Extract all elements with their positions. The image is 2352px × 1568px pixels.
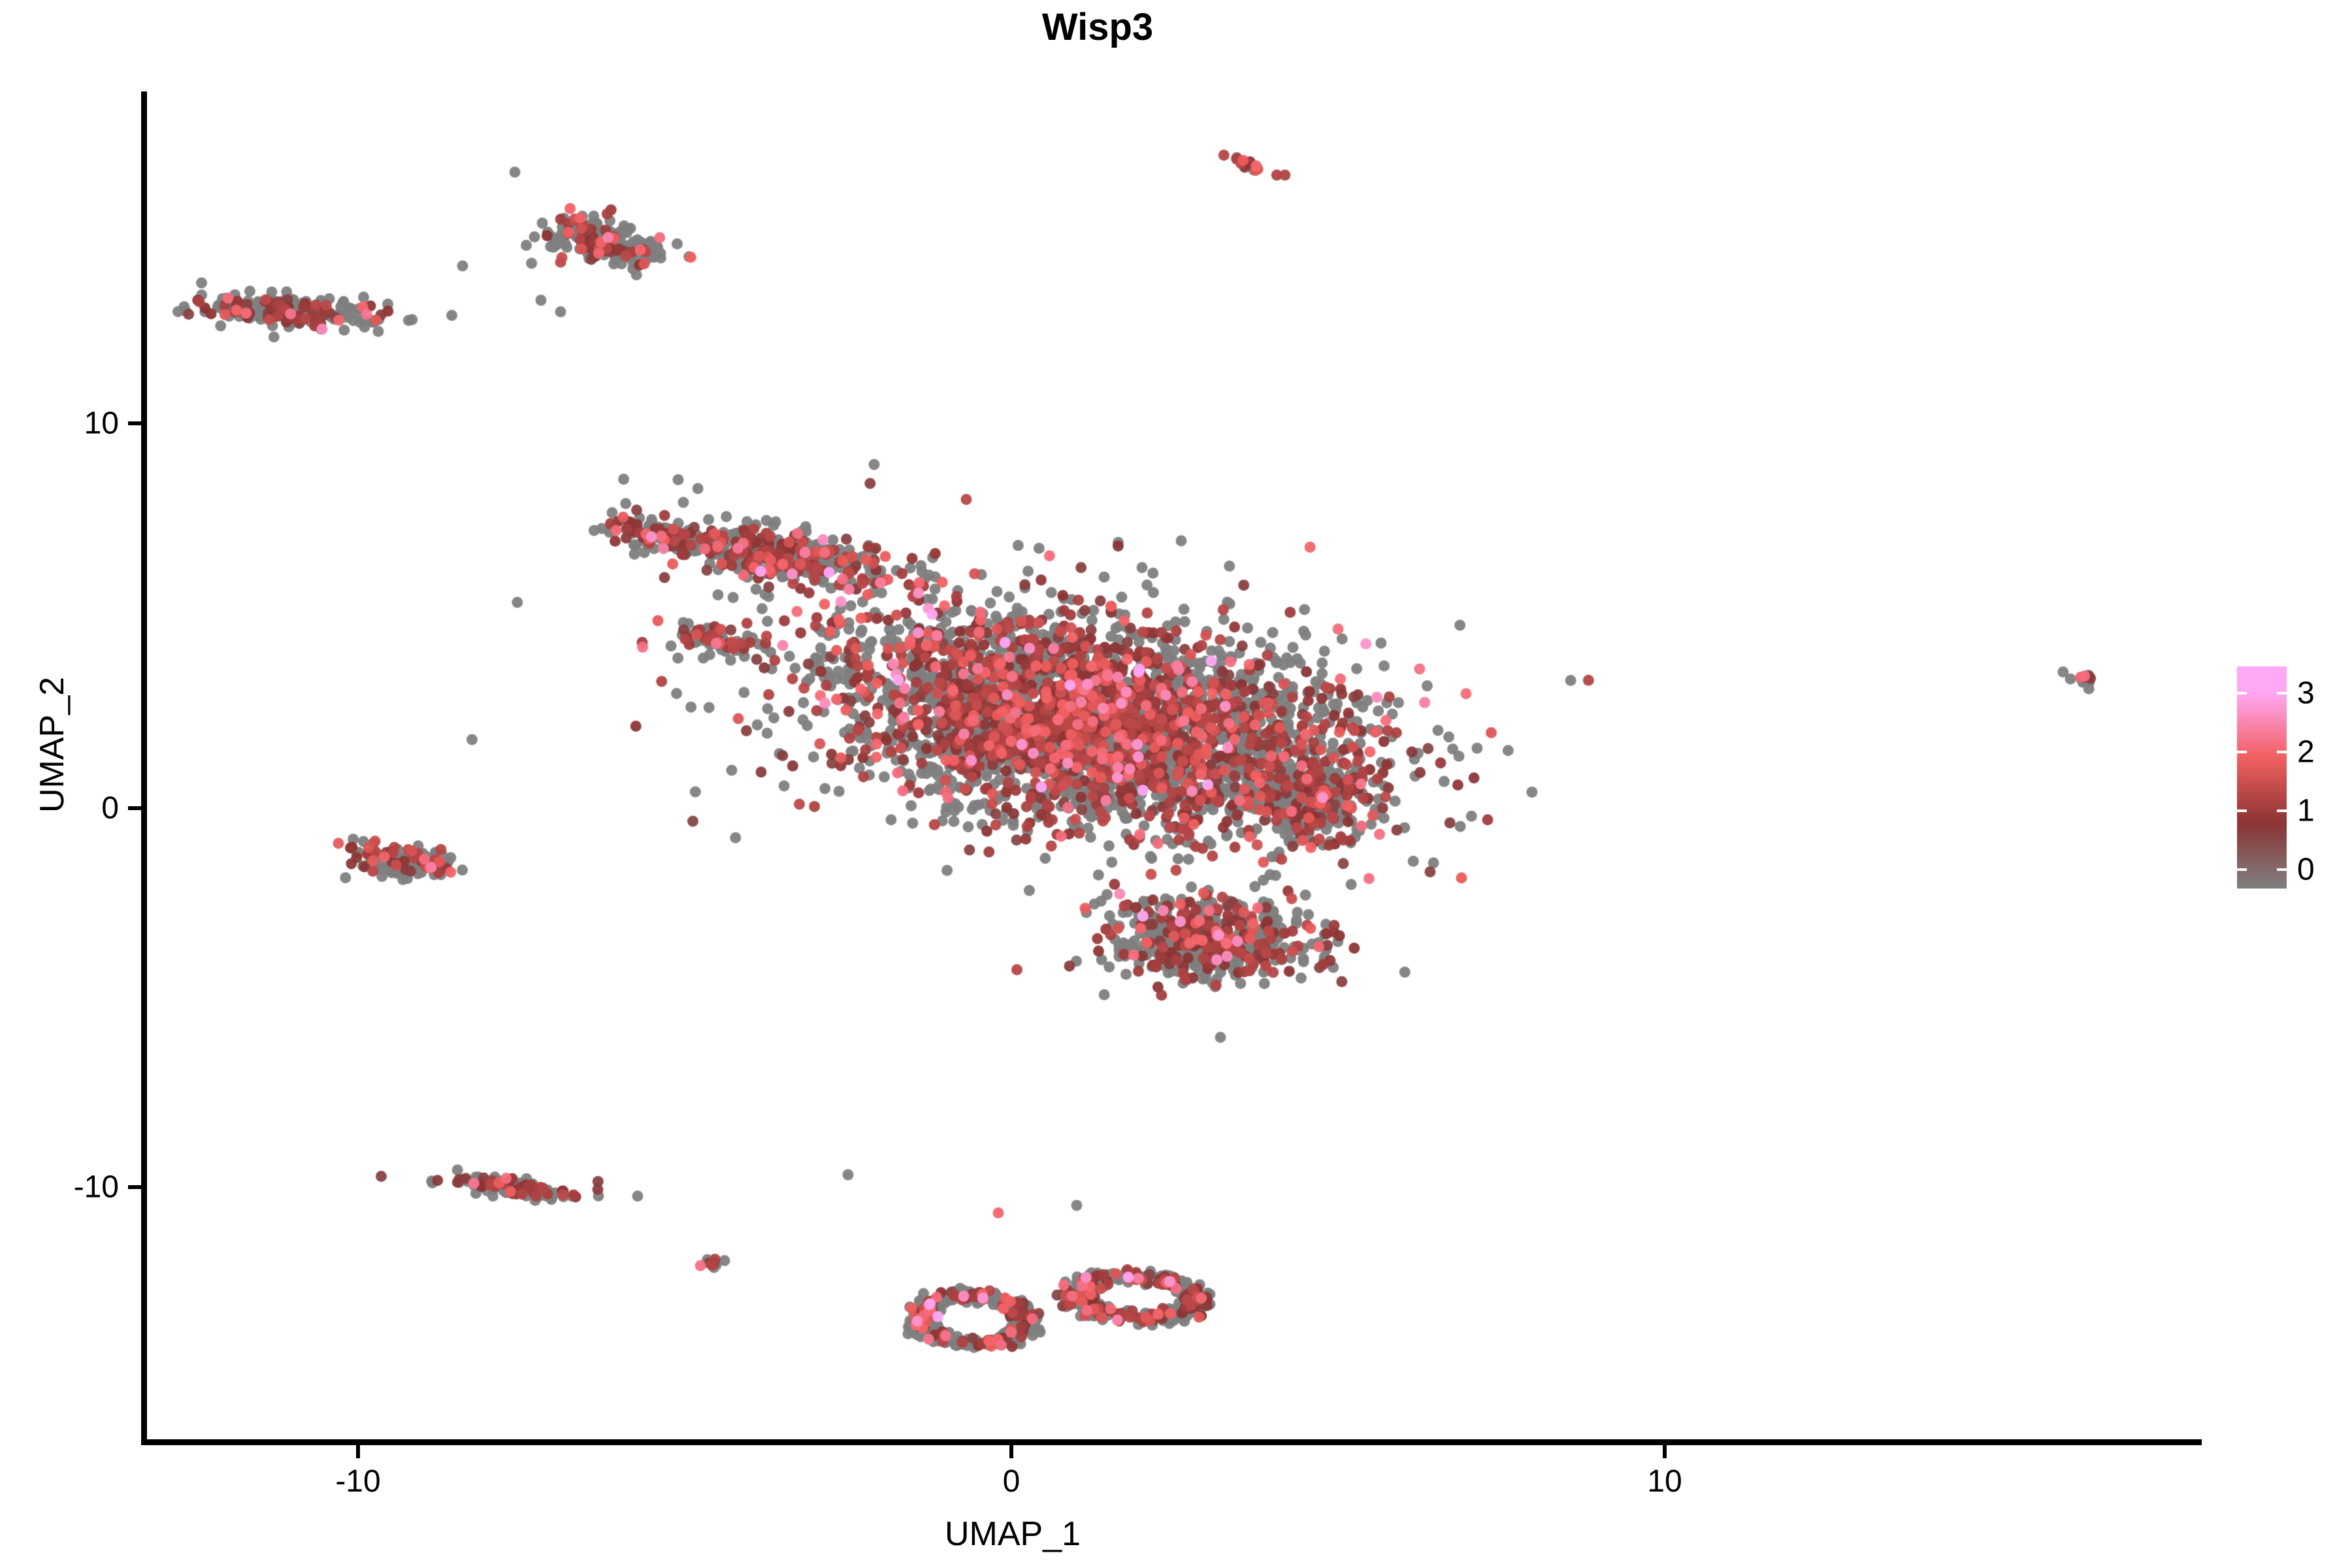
colorbar-label-2: 2 bbox=[2297, 734, 2315, 770]
colorbar-label-3: 3 bbox=[2297, 676, 2315, 711]
colorbar-tick-3-left bbox=[2237, 692, 2247, 694]
colorbar-tick-2-right bbox=[2277, 751, 2287, 753]
colorbar-legend: 3 2 1 0 bbox=[2237, 666, 2348, 892]
colorbar-tick-0-left bbox=[2237, 868, 2247, 871]
colorbar-gradient bbox=[2237, 666, 2287, 889]
x-tick-mark-0 bbox=[1009, 1445, 1013, 1458]
y-axis-title: UMAP_2 bbox=[33, 640, 72, 849]
x-tick-label-0: 0 bbox=[1003, 1463, 1021, 1499]
colorbar-tick-3-right bbox=[2277, 692, 2287, 694]
y-tick-label-10: 10 bbox=[84, 406, 119, 442]
plot-panel bbox=[144, 91, 2202, 1444]
x-axis-title: UMAP_1 bbox=[849, 1514, 1176, 1554]
x-tick-label-10: 10 bbox=[1647, 1463, 1682, 1499]
colorbar-label-0: 0 bbox=[2297, 852, 2315, 888]
umap-feature-plot: Wisp3 10 0 -10 -10 0 10 UMAP_1 UMAP_2 3 … bbox=[0, 0, 2352, 1568]
x-tick-mark-neg10 bbox=[356, 1445, 360, 1458]
colorbar-tick-1-right bbox=[2277, 809, 2287, 812]
colorbar-tick-1-left bbox=[2237, 809, 2247, 812]
scatter-points-canvas bbox=[144, 91, 2202, 1444]
x-tick-mark-10 bbox=[1663, 1445, 1667, 1458]
colorbar-label-1: 1 bbox=[2297, 793, 2315, 829]
y-tick-mark-neg10 bbox=[128, 1185, 141, 1189]
colorbar-tick-0-right bbox=[2277, 868, 2287, 871]
page-title: Wisp3 bbox=[0, 5, 2195, 49]
colorbar-tick-2-left bbox=[2237, 751, 2247, 753]
x-axis-line bbox=[141, 1439, 2202, 1445]
y-axis-line bbox=[141, 91, 147, 1445]
x-tick-label-neg10: -10 bbox=[335, 1463, 380, 1499]
y-tick-mark-10 bbox=[128, 421, 141, 425]
y-tick-label-neg10: -10 bbox=[74, 1169, 119, 1205]
y-tick-mark-0 bbox=[128, 806, 141, 810]
y-tick-label-0: 0 bbox=[101, 791, 119, 826]
